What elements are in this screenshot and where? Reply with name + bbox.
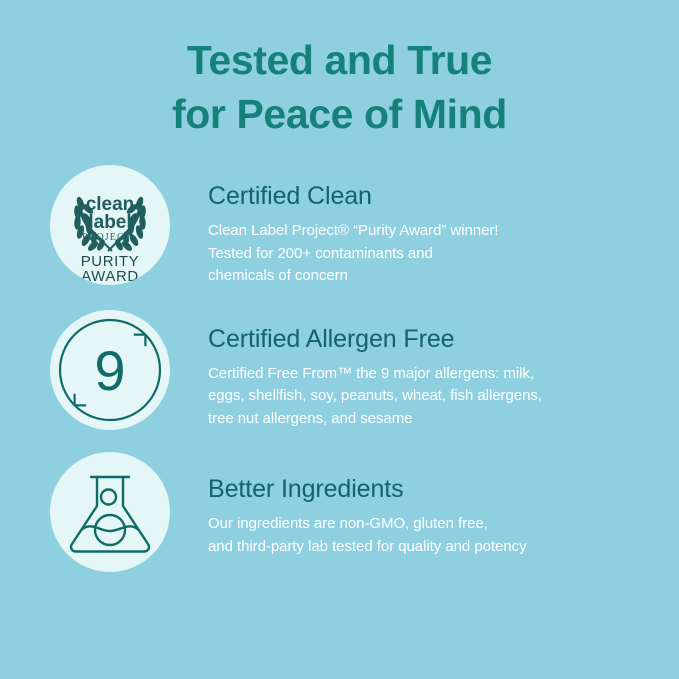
allergen-count-number: 9 — [94, 339, 125, 402]
feature-description-line: Clean Label Project® “Purity Award” winn… — [208, 220, 660, 243]
feature-description-line: tree nut allergens, and sesame — [208, 408, 660, 431]
promo-graphic: Tested and True for Peace of Mind — [0, 0, 679, 679]
feature-description-line: and third-party lab tested for quality a… — [208, 536, 660, 559]
feature-heading: Better Ingredients — [208, 474, 679, 504]
badge-word-project: PROJECT — [82, 232, 132, 243]
page-title-line-1: Tested and True — [40, 33, 640, 87]
feature-text-block: Certified Clean Clean Label Project® “Pu… — [208, 165, 679, 288]
feature-description-line: Our ingredients are non-GMO, gluten free… — [208, 513, 660, 536]
clean-label-project-purity-award-badge-icon: clean label PROJECT ® PURITY AWARD — [50, 165, 170, 285]
feature-description: Certified Free From™ the 9 major allerge… — [208, 363, 660, 431]
feature-heading: Certified Clean — [208, 181, 679, 211]
feature-description: Clean Label Project® “Purity Award” winn… — [208, 220, 660, 288]
feature-description-line: eggs, shellfish, soy, peanuts, wheat, fi… — [208, 385, 660, 408]
feature-icon-container — [50, 452, 170, 572]
page-title: Tested and True for Peace of Mind — [40, 0, 640, 141]
feature-icon-container: clean label PROJECT ® PURITY AWARD — [50, 165, 170, 285]
feature-text-block: Better Ingredients Our ingredients are n… — [208, 452, 679, 558]
feature-description-line: Tested for 200+ contaminants and — [208, 243, 660, 266]
feature-item-certified-clean: clean label PROJECT ® PURITY AWARD Certi… — [0, 165, 679, 288]
feature-description-line: chemicals of concern — [208, 265, 660, 288]
badge-word-label: label — [88, 212, 131, 233]
feature-item-certified-allergen-free: 9 Certified Allergen Free Certified Free… — [0, 310, 679, 431]
badge-award-line-2: AWARD — [81, 268, 139, 285]
badge-registered-mark: ® — [127, 230, 133, 238]
lab-flask-icon — [50, 452, 170, 572]
feature-item-better-ingredients: Better Ingredients Our ingredients are n… — [0, 452, 679, 572]
nine-allergens-circle-icon: 9 — [50, 310, 170, 430]
feature-description-line: Certified Free From™ the 9 major allerge… — [208, 363, 660, 386]
feature-list: clean label PROJECT ® PURITY AWARD Certi… — [0, 165, 679, 572]
feature-text-block: Certified Allergen Free Certified Free F… — [208, 310, 679, 431]
page-title-line-2: for Peace of Mind — [40, 87, 640, 141]
feature-description: Our ingredients are non-GMO, gluten free… — [208, 513, 660, 558]
feature-heading: Certified Allergen Free — [208, 324, 679, 354]
feature-icon-container: 9 — [50, 310, 170, 430]
